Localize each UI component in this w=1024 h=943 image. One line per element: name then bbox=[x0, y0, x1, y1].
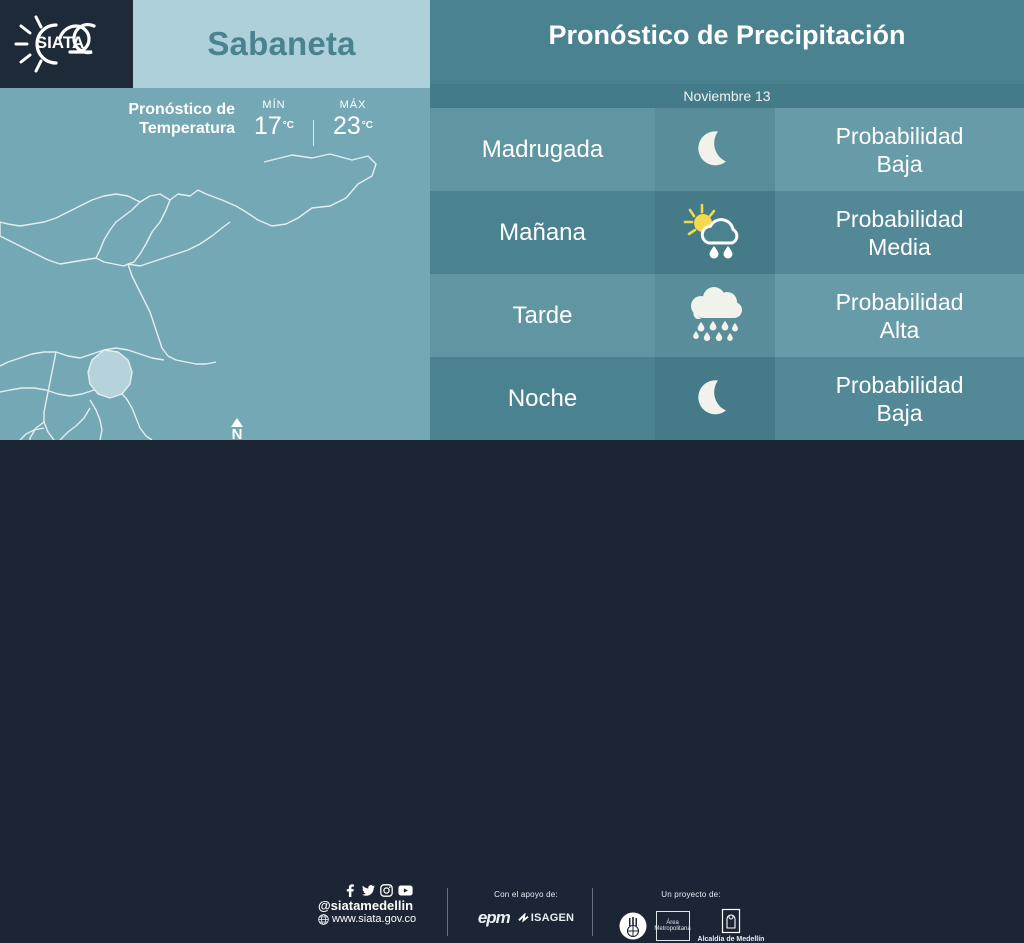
sun-cloud-rain-icon bbox=[655, 191, 775, 274]
probability-line1: Probabilidad bbox=[836, 289, 964, 315]
footer: @siatamedellin www.siata.gov.co Con el a… bbox=[0, 440, 1024, 512]
heavy-rain-cloud-icon bbox=[655, 274, 775, 357]
alcaldia-logo: Alcaldía de Medellín bbox=[698, 936, 765, 943]
temperature-max-unit: °C bbox=[362, 120, 373, 131]
probability-line1: Probabilidad bbox=[836, 372, 964, 398]
siata-logo-text: SIATA bbox=[36, 33, 84, 52]
map-highlight-sabaneta bbox=[88, 350, 132, 398]
right-panel: Pronóstico de Precipitación Noviembre 13… bbox=[430, 0, 1024, 440]
temperature-min-value: 17 bbox=[254, 112, 282, 140]
probability-line2: Baja bbox=[876, 400, 922, 426]
table-row: Mañana bbox=[430, 191, 1024, 274]
support-logos: epm ISAGEN bbox=[462, 908, 590, 928]
probability-line2: Media bbox=[868, 234, 931, 260]
page-title: Sabaneta bbox=[133, 0, 430, 88]
support-block: Con el apoyo de: epm ISAGEN bbox=[462, 890, 590, 928]
left-header-bar: SIATA Sabaneta bbox=[0, 0, 430, 88]
area-metropolitana-seal-icon bbox=[618, 911, 648, 941]
probability-label: ProbabilidadAlta bbox=[775, 274, 1024, 357]
project-caption: Un proyecto de: bbox=[596, 890, 786, 899]
aburra-valley-map: N bbox=[0, 150, 430, 440]
temperature-max-caption: MÁX bbox=[322, 98, 384, 112]
project-logos: Área Metropolitana Alcaldía de Medellín bbox=[596, 908, 786, 943]
table-row: Noche ProbabilidadBaja bbox=[430, 357, 1024, 440]
footer-divider-1 bbox=[447, 888, 448, 936]
social-handle[interactable]: @siatamedellin bbox=[318, 898, 438, 913]
probability-line1: Probabilidad bbox=[836, 206, 964, 232]
project-block: Un proyecto de: Área Metropolitana bbox=[596, 890, 786, 943]
alcaldia-crest-icon bbox=[720, 908, 742, 934]
probability-line1: Probabilidad bbox=[836, 123, 964, 149]
social-icons bbox=[318, 884, 438, 897]
moon-icon bbox=[655, 108, 775, 191]
temperature-separator bbox=[313, 120, 314, 146]
temperature-label-line2: Temperatura bbox=[139, 120, 235, 137]
temperature-max-value: 23 bbox=[333, 112, 361, 140]
sun-cloud-icon: SIATA bbox=[10, 8, 120, 80]
footer-divider-2 bbox=[592, 888, 593, 936]
probability-line2: Baja bbox=[876, 151, 922, 177]
twitter-icon[interactable] bbox=[362, 884, 375, 897]
probability-label: ProbabilidadBaja bbox=[775, 357, 1024, 440]
temperature-min-caption: MÍN bbox=[243, 98, 305, 112]
temperature-min-unit: °C bbox=[283, 120, 294, 131]
forecast-table: Madrugada ProbabilidadBaja Mañana bbox=[430, 108, 1024, 440]
website-url: www.siata.gov.co bbox=[332, 913, 416, 925]
precipitation-title: Pronóstico de Precipitación bbox=[430, 20, 1024, 51]
website-row[interactable]: www.siata.gov.co bbox=[318, 913, 438, 925]
temperature-min: MÍN 17°C bbox=[243, 98, 305, 140]
table-row: Tarde bbox=[430, 274, 1024, 357]
temperature-label-line1: Pronóstico de bbox=[128, 101, 235, 118]
isagen-logo: ISAGEN bbox=[531, 912, 574, 924]
isagen-mark-icon bbox=[518, 913, 529, 924]
temperature-label: Pronóstico de Temperatura bbox=[60, 100, 235, 138]
youtube-icon[interactable] bbox=[398, 884, 413, 897]
social-block: @siatamedellin www.siata.gov.co bbox=[318, 884, 438, 925]
temperature-max: MÁX 23°C bbox=[322, 98, 384, 140]
globe-icon bbox=[318, 914, 329, 925]
weather-forecast-infographic: SIATA Sabaneta Pronóstico de Temperatura… bbox=[0, 0, 1024, 512]
instagram-icon[interactable] bbox=[380, 884, 393, 897]
probability-line2: Alta bbox=[880, 317, 920, 343]
probability-label: ProbabilidadBaja bbox=[775, 108, 1024, 191]
period-label: Madrugada bbox=[430, 108, 655, 191]
moon-icon bbox=[655, 357, 775, 440]
probability-label: ProbabilidadMedia bbox=[775, 191, 1024, 274]
forecast-date: Noviembre 13 bbox=[430, 84, 1024, 108]
left-panel: SIATA Sabaneta Pronóstico de Temperatura… bbox=[0, 0, 430, 440]
facebook-icon[interactable] bbox=[344, 884, 357, 897]
table-row: Madrugada ProbabilidadBaja bbox=[430, 108, 1024, 191]
area-metropolitana-logo: Área Metropolitana bbox=[656, 911, 690, 941]
period-label: Tarde bbox=[430, 274, 655, 357]
period-label: Mañana bbox=[430, 191, 655, 274]
map-svg bbox=[0, 150, 430, 440]
epm-logo: epm bbox=[478, 908, 510, 928]
period-label: Noche bbox=[430, 357, 655, 440]
support-caption: Con el apoyo de: bbox=[462, 890, 590, 899]
